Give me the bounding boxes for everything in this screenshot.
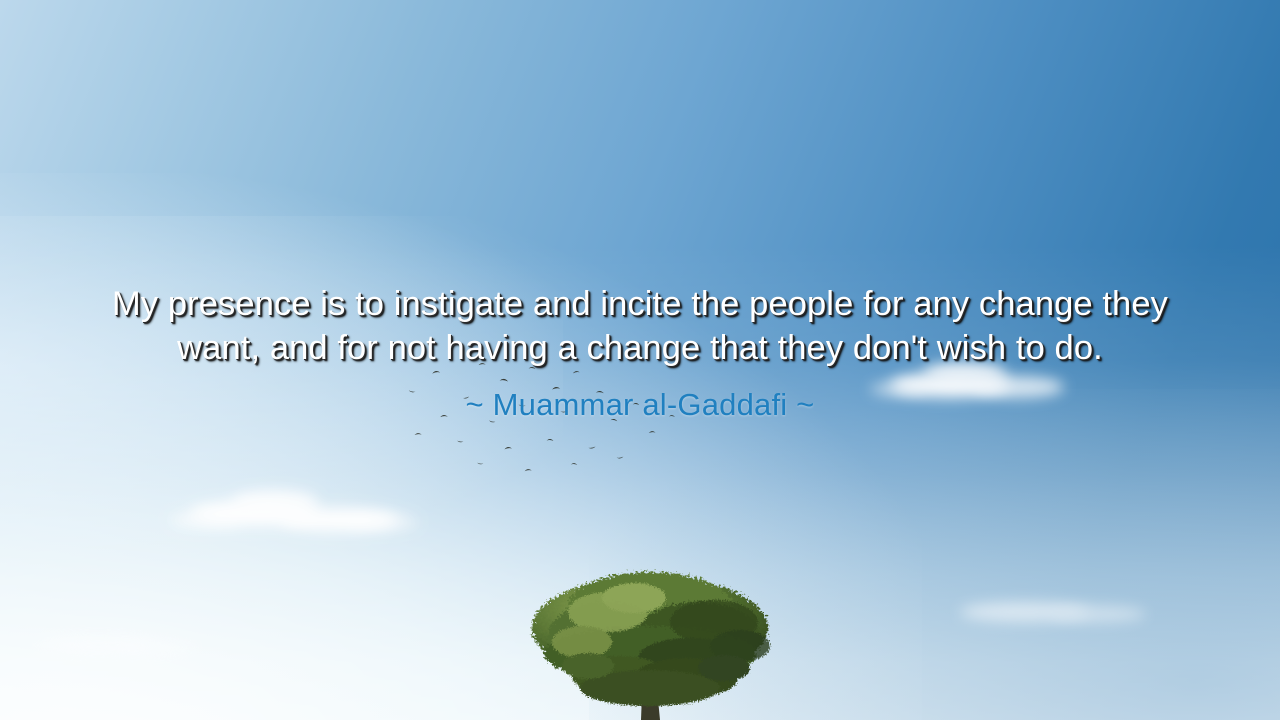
bird-icon <box>572 369 580 374</box>
bird-icon <box>529 365 537 370</box>
bird-icon <box>552 385 561 391</box>
quote-image-canvas: My presence is to instigate and incite t… <box>0 0 1280 720</box>
bird-icon <box>560 409 568 414</box>
oak-tree <box>500 560 800 720</box>
bird-icon <box>500 376 510 382</box>
bird-icon <box>571 461 578 465</box>
bird-icon <box>477 461 485 466</box>
bird-flock <box>400 355 740 485</box>
bird-icon <box>616 455 624 460</box>
bird-icon <box>432 368 442 374</box>
bird-icon <box>463 395 471 400</box>
bird-icon <box>518 403 527 409</box>
bird-icon <box>408 389 416 395</box>
bird-icon <box>588 445 597 451</box>
bird-icon <box>633 401 641 406</box>
bird-icon <box>414 431 422 436</box>
bird-icon <box>489 419 497 424</box>
bird-icon <box>610 417 618 422</box>
bird-icon <box>478 361 486 366</box>
bird-icon <box>504 445 513 451</box>
bird-icon <box>524 467 533 472</box>
bird-icon <box>457 439 465 444</box>
bird-icon <box>547 437 555 442</box>
bird-icon <box>649 429 657 434</box>
bird-icon <box>669 413 676 417</box>
bird-icon <box>440 413 449 418</box>
bird-icon <box>596 389 605 395</box>
